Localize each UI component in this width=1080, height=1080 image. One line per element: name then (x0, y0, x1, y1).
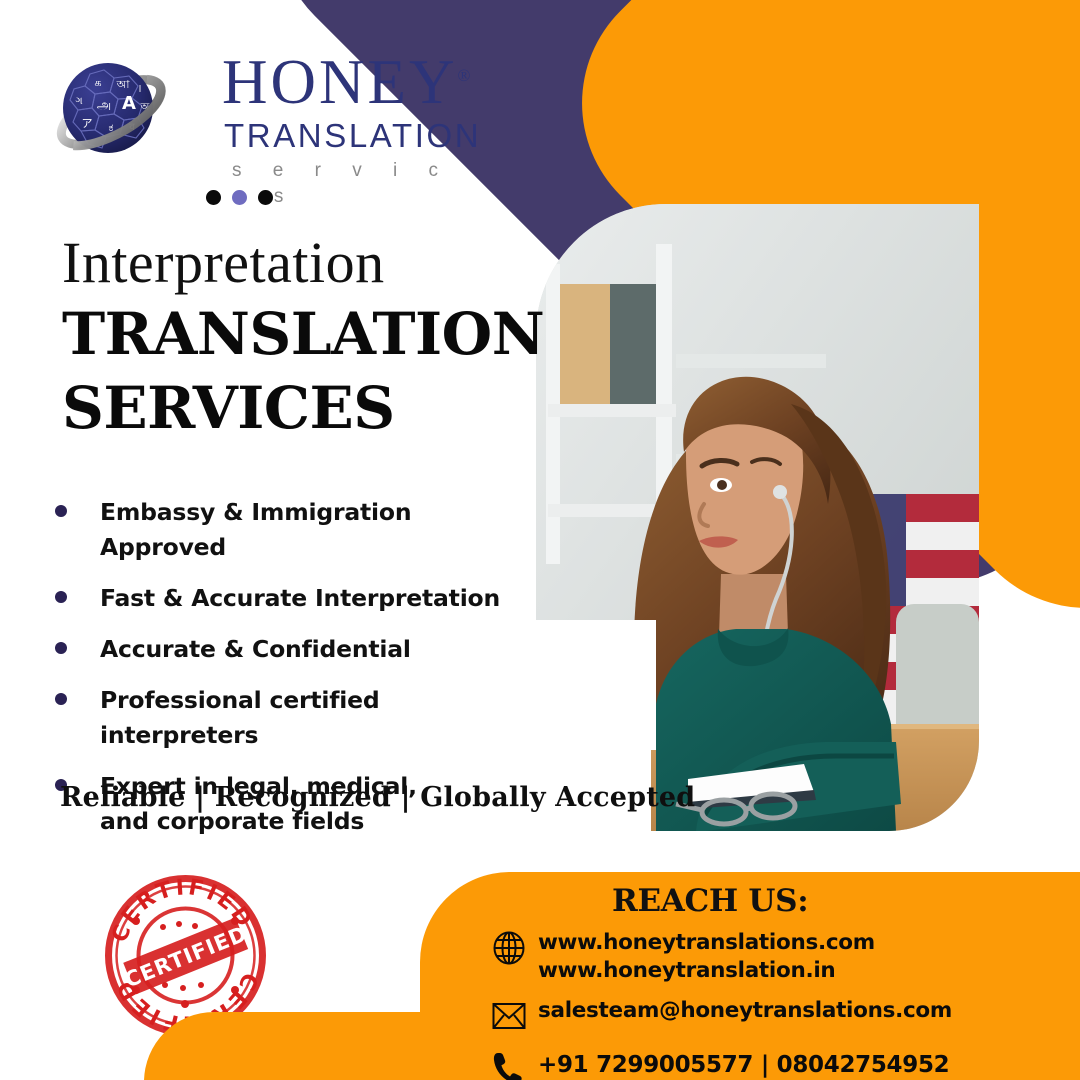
headline-bold-line-2: SERVICES (62, 374, 532, 442)
list-item-label: Accurate & Confidential (100, 632, 411, 667)
email-address[interactable]: salesteam@honeytranslations.com (538, 996, 952, 1024)
decorative-dots (206, 190, 273, 205)
svg-text:ア: ア (82, 117, 93, 130)
contact-row-email[interactable]: salesteam@honeytranslations.com (492, 996, 1052, 1036)
contact-row-phone[interactable]: +91 7299005577 | 08042754952 (492, 1048, 1052, 1080)
bullet-icon (55, 505, 67, 517)
brand-name-primary: HONEY® (222, 44, 470, 114)
svg-text:A: A (122, 93, 136, 114)
brand-name-secondary: TRANSLATION (224, 116, 470, 156)
contact-details: www.honeytranslations.com www.honeytrans… (492, 928, 1052, 1080)
svg-text:க: க (94, 76, 101, 89)
list-item: Fast & Accurate Interpretation (55, 581, 535, 616)
registered-trademark-icon: ® (457, 66, 470, 85)
website-2[interactable]: www.honeytranslation.in (538, 956, 875, 984)
svg-text:அ: அ (97, 98, 111, 113)
dot-2 (232, 190, 247, 205)
contact-row-website[interactable]: www.honeytranslations.com www.honeytrans… (492, 928, 1052, 984)
headline-bold-line-1: TRANSLATION (62, 300, 532, 368)
svg-text:ગ: ગ (75, 96, 82, 107)
phone-icon (492, 1048, 538, 1080)
bullet-icon (55, 642, 67, 654)
brand-wordmark: HONEY® TRANSLATION s e r v i c e s (170, 44, 470, 210)
list-item: Embassy & Immigration Approved (55, 495, 535, 565)
contact-title: REACH US: (612, 883, 808, 919)
envelope-icon (492, 996, 538, 1036)
website-1[interactable]: www.honeytranslations.com (538, 928, 875, 956)
list-item: Professional certified interpreters (55, 683, 535, 753)
list-item-label: Fast & Accurate Interpretation (100, 581, 500, 616)
list-item: Accurate & Confidential (55, 632, 535, 667)
globe-languages-icon: க আ ا ગ அ A অ ア ಕ व (52, 52, 170, 170)
tagline: Reliable | Recognized | Globally Accepte… (60, 781, 695, 815)
bullet-icon (55, 693, 67, 705)
headline-script: Interpretation (62, 232, 532, 294)
website-links[interactable]: www.honeytranslations.com www.honeytrans… (538, 928, 875, 984)
bullet-icon (55, 591, 67, 603)
dot-3 (258, 190, 273, 205)
dot-1 (206, 190, 221, 205)
svg-text:আ: আ (116, 78, 130, 91)
list-item-label: Embassy & Immigration Approved (100, 495, 535, 565)
page-title: Interpretation TRANSLATION SERVICES (62, 232, 532, 442)
promotional-poster: க আ ا ગ அ A অ ア ಕ व HONEY® TRANSLATION s… (0, 0, 1080, 1080)
brand-logo: க আ ا ગ அ A অ ア ಕ व HONEY® TRANSLATION s… (52, 44, 472, 179)
list-item-label: Professional certified interpreters (100, 683, 535, 753)
brand-name-primary-text: HONEY (222, 47, 457, 117)
phone-numbers[interactable]: +91 7299005577 | 08042754952 (538, 1048, 949, 1079)
svg-text:ا: ا (139, 85, 142, 95)
globe-icon (492, 928, 538, 968)
